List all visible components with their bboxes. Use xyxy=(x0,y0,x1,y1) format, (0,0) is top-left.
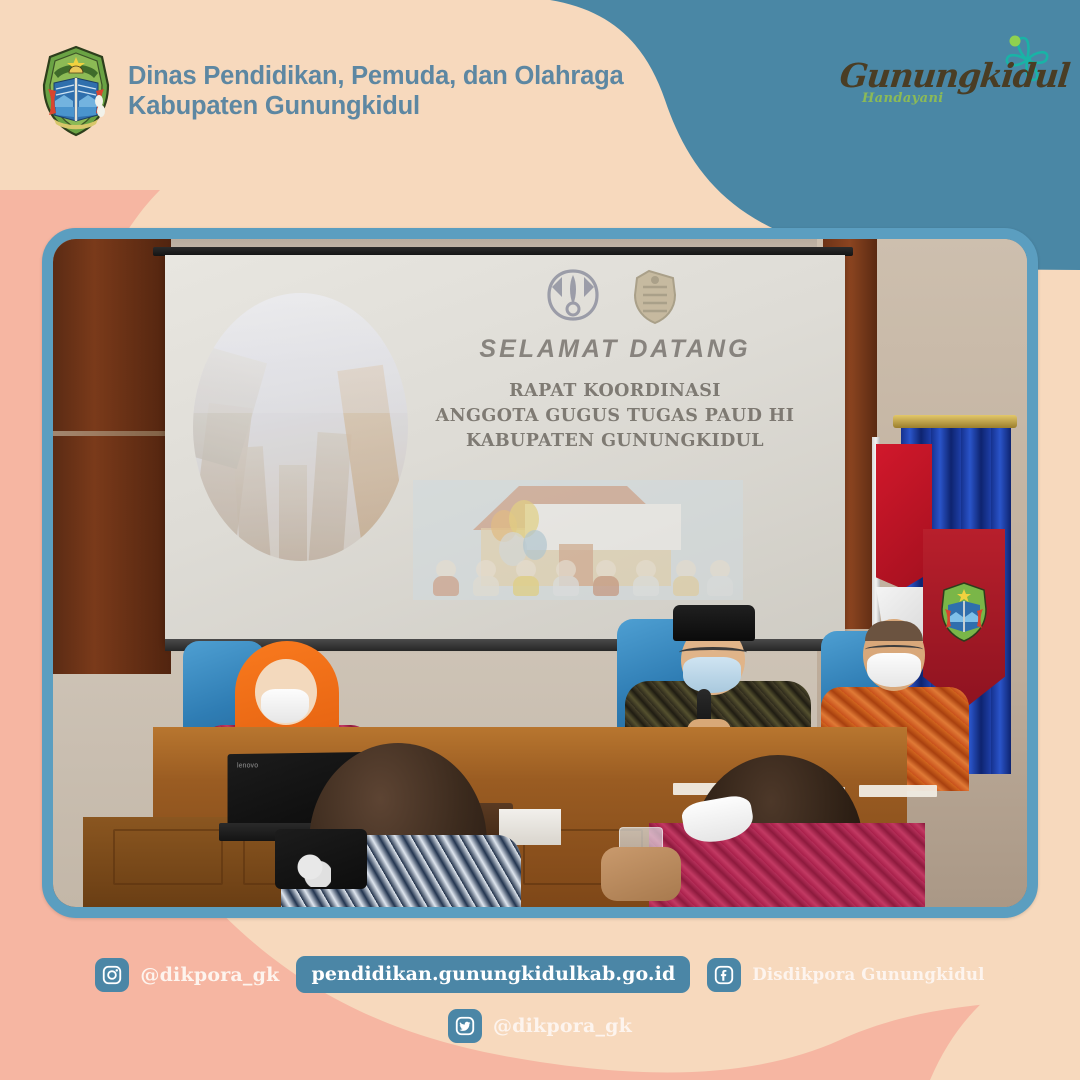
brand-wordmark: Gunungkidul xyxy=(838,56,1032,95)
table-panel xyxy=(113,829,223,885)
event-photo-frame: SELAMAT DATANG RAPAT KOORDINASI ANGGOTA … xyxy=(42,228,1038,918)
tut-wuri-handayani-icon xyxy=(549,271,597,319)
facebook-link[interactable]: Disdikpora Gunungkidul xyxy=(707,958,984,992)
laptop-brand-label: lenovo xyxy=(237,762,258,769)
page-title-line-1: Dinas Pendidikan, Pemuda, dan Olahraga xyxy=(128,61,623,91)
twitter-link[interactable]: @dikpora_gk xyxy=(448,1009,632,1043)
header-title-block: Dinas Pendidikan, Pemuda, dan Olahraga K… xyxy=(128,61,623,121)
house-text-card xyxy=(525,504,681,550)
gunungkidul-regency-crest-icon xyxy=(40,45,112,137)
slide-logos xyxy=(539,265,699,327)
attendee-front-right-hand xyxy=(601,847,681,901)
slide-illustration xyxy=(413,480,743,600)
gunungkidul-regency-crest-icon xyxy=(635,271,675,323)
instagram-handle: @dikpora_gk xyxy=(140,964,279,986)
social-row-primary: @dikpora_gk pendidikan.gunungkidulkab.go… xyxy=(0,956,1080,993)
slide-subtitle-line-3: KABUPATEN GUNUNGKIDUL xyxy=(380,429,850,454)
slide-title: SELAMAT DATANG xyxy=(405,335,825,364)
website-url-pill[interactable]: pendidikan.gunungkidulkab.go.id xyxy=(296,956,690,993)
facebook-page-name: Disdikpora Gunungkidul xyxy=(752,965,984,984)
social-row-secondary: @dikpora_gk xyxy=(0,1009,1080,1043)
page-title-line-2: Kabupaten Gunungkidul xyxy=(128,91,623,121)
facebook-icon[interactable] xyxy=(707,958,741,992)
instagram-link[interactable]: @dikpora_gk xyxy=(95,958,279,992)
curtain-rod xyxy=(893,415,1017,428)
slide-subtitle-line-2: ANGGOTA GUGUS TUGAS PAUD HI xyxy=(380,404,850,429)
brand-tagline: Handayani xyxy=(862,91,944,106)
paper-sheet xyxy=(859,785,937,797)
twitter-handle: @dikpora_gk xyxy=(493,1015,632,1037)
twitter-icon[interactable] xyxy=(448,1009,482,1043)
page-header: Dinas Pendidikan, Pemuda, dan Olahraga K… xyxy=(40,45,623,137)
presentation-slide: SELAMAT DATANG RAPAT KOORDINASI ANGGOTA … xyxy=(165,255,845,645)
slide-circle-photo xyxy=(193,293,408,561)
attendee-front-left-mask-hanging xyxy=(289,847,331,887)
wood-panel-left xyxy=(53,239,171,674)
slide-subtitle: RAPAT KOORDINASI ANGGOTA GUGUS TUGAS PAU… xyxy=(380,379,850,454)
event-photo: SELAMAT DATANG RAPAT KOORDINASI ANGGOTA … xyxy=(53,239,1027,907)
social-footer: @dikpora_gk pendidikan.gunungkidulkab.go… xyxy=(0,948,1080,1078)
wood-panel-seam xyxy=(53,431,171,436)
slide-subtitle-line-1: RAPAT KOORDINASI xyxy=(380,379,850,404)
projector-screen: SELAMAT DATANG RAPAT KOORDINASI ANGGOTA … xyxy=(165,255,845,645)
instagram-icon[interactable] xyxy=(95,958,129,992)
gunungkidul-brand-logo: Gunungkidul Handayani xyxy=(840,38,1055,124)
